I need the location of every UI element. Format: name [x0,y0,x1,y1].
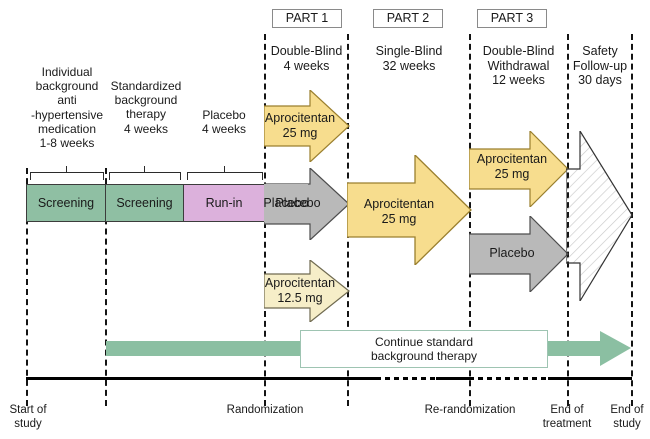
trial-design-figure: PART 1 PART 2 PART 3 Double-Blind 4 week… [0,0,650,439]
part2-caption: Single-Blind 32 weeks [350,44,468,73]
tl-randomization-line1: Randomization [212,404,318,418]
box-run-in: Run-in [183,184,265,222]
box-screening-1-label: Screening [38,196,94,210]
part-1-label: PART 1 [272,9,342,28]
arrow-part3-apro25-line1: Aprocitentan [470,152,554,167]
part1-caption: Double-Blind 4 weeks [265,44,348,73]
tl-end-of-treatment-line2: treatment [533,418,601,432]
arrow-part1-apro125-label: Aprocitentan 12.5 mg [264,276,336,305]
desc-pbo-line1: Placebo [185,108,263,122]
part3-caption-line1: Double-Blind [470,44,567,59]
continue-background-therapy-box: Continue standard background therapy [300,330,548,368]
part2-caption-line1: Single-Blind [350,44,468,59]
timeline-axis-dotted-1 [376,377,436,380]
tl-start-of-study-line1: Start of [0,404,56,418]
desc-std-line3: therapy [104,107,188,121]
part-3-text: PART 3 [491,11,533,25]
arrow-part2-apro25-line1: Aprocitentan [355,197,443,212]
arrow-part1-apro125-line1: Aprocitentan [264,276,336,291]
box-run-in-label: Run-in [206,196,243,210]
tl-end-of-study-line2: study [604,418,650,432]
arrow-part1-apro25-line1: Aprocitentan [264,111,336,126]
part-3-label: PART 3 [477,9,547,28]
tl-randomization: Randomization [212,404,318,418]
box-screening-1: Screening [26,184,106,222]
bracket-screening-2 [109,172,181,180]
tl-re-randomization-line1: Re-randomization [410,404,530,418]
timeline-axis-dotted-2 [478,377,546,380]
desc-placebo-4weeks: Placebo 4 weeks [185,108,263,136]
part3-caption-line2: Withdrawal [470,59,567,74]
part3-caption-line3: 12 weeks [470,73,567,88]
arrow-part2-apro25-label: Aprocitentan 25 mg [355,197,443,226]
tl-start-of-study-line2: study [0,418,56,432]
arrow-part3-placebo-label: Placebo [470,246,554,261]
desc-ind-line1: Individual [8,65,126,79]
bracket-run-in [187,172,263,180]
tl-start-of-study: Start of study [0,404,56,431]
followup-caption: Safety Follow-up 30 days [569,44,631,88]
arrow-part1-apro125-line2: 12.5 mg [264,291,336,306]
part-2-label: PART 2 [373,9,443,28]
followup-caption-line1: Safety [569,44,631,59]
timeline-axis-left [26,377,376,380]
part2-caption-line2: 32 weeks [350,59,468,74]
desc-std-line2: background [104,93,188,107]
arrow-part3-apro25-label: Aprocitentan 25 mg [470,152,554,181]
arrow-part1-apro25-label: Aprocitentan 25 mg [264,111,336,140]
tl-end-of-treatment: End of treatment [533,404,601,431]
desc-standardized-background: Standardized background therapy 4 weeks [104,79,188,136]
box-screening-2-label: Screening [116,196,172,210]
desc-std-line1: Standardized [104,79,188,93]
bracket-tick-screening-1 [66,166,67,172]
part3-caption: Double-Blind Withdrawal 12 weeks [470,44,567,88]
tl-end-of-study: End of study [604,404,650,431]
box-screening-2: Screening [105,184,184,222]
desc-ind-line6: 1-8 weeks [8,136,126,150]
part1-caption-line1: Double-Blind [265,44,348,59]
arrow-part3-placebo-line1: Placebo [470,246,554,261]
arrow-part1-placebo-label: Placebo [268,196,328,211]
part-1-text: PART 1 [286,11,328,25]
bracket-tick-screening-2 [144,166,145,172]
bracket-tick-run-in [224,166,225,172]
followup-caption-line2: Follow-up [569,59,631,74]
arrow-part2-apro25-line2: 25 mg [355,212,443,227]
part1-caption-line2: 4 weeks [265,59,348,74]
continue-bgt-line2: background therapy [371,349,477,364]
tl-end-of-study-line1: End of [604,404,650,418]
timeline-axis-right [548,377,632,380]
arrow-part3-apro25-line2: 25 mg [470,167,554,182]
background-therapy-arrowhead [600,331,632,366]
desc-std-line4: 4 weeks [104,122,188,136]
safety-followup-shape [566,131,634,301]
bracket-screening-1 [30,172,104,180]
followup-caption-line3: 30 days [569,73,631,88]
arrow-part1-apro25-line2: 25 mg [264,126,336,141]
tl-re-randomization: Re-randomization [410,404,530,418]
continue-bgt-line1: Continue standard [371,335,477,350]
part-2-text: PART 2 [387,11,429,25]
tl-end-of-treatment-line1: End of [533,404,601,418]
timeline-axis-mid [436,377,474,380]
desc-pbo-line2: 4 weeks [185,122,263,136]
arrow-part1-placebo-line1: Placebo [268,196,328,211]
